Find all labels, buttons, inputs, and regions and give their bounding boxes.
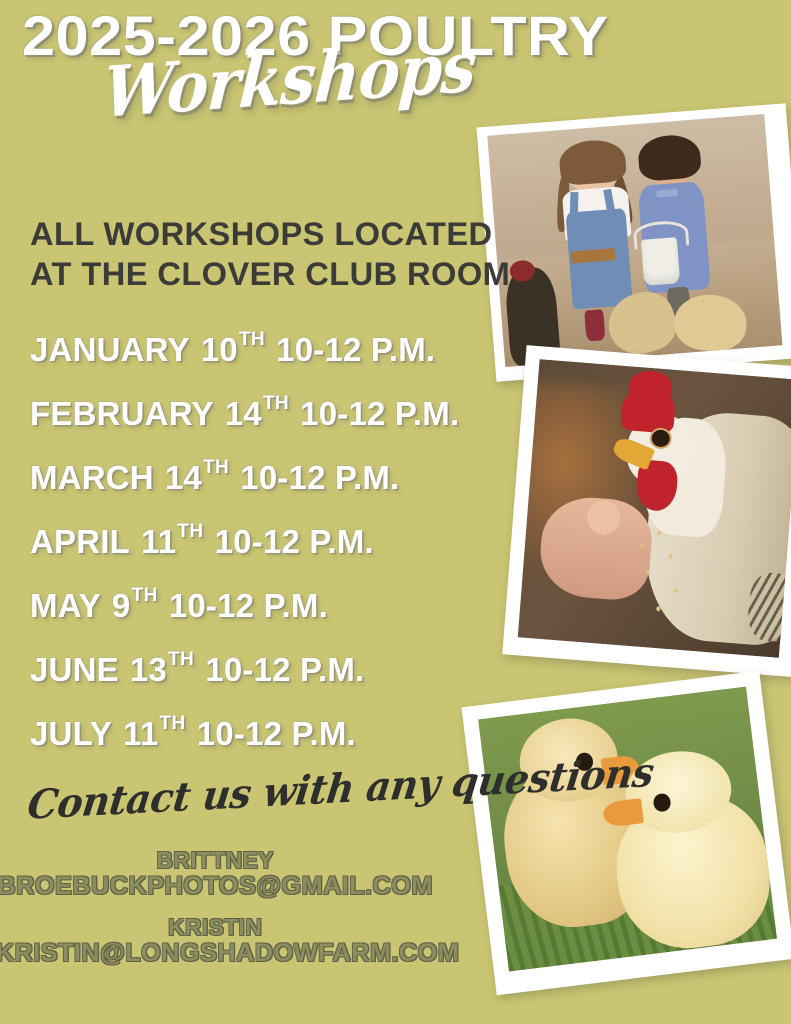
schedule-month: MARCH — [30, 459, 154, 497]
scene-hen — [518, 359, 791, 658]
schedule-month: FEBRUARY — [30, 395, 214, 433]
location-line-2: AT THE CLOVER CLUB ROOM — [30, 254, 489, 294]
location-line-1: ALL WORKSHOPS LOCATED — [30, 214, 489, 254]
schedule-time: 10-12 P.M. — [197, 715, 356, 753]
schedule-day: 11 — [123, 715, 158, 753]
schedule-ordinal: TH — [239, 329, 265, 351]
schedule-row: JULY 11 TH 10-12 P.M. — [30, 702, 500, 766]
schedule-ordinal: TH — [203, 457, 229, 479]
schedule-ordinal: TH — [168, 649, 194, 671]
schedule-time: 10-12 P.M. — [300, 395, 459, 433]
white-bucket — [640, 237, 680, 286]
schedule-ordinal: TH — [177, 521, 203, 543]
contact-name: KRISTIN — [0, 915, 430, 940]
schedule-month: JULY — [30, 715, 112, 753]
grain-seed — [674, 588, 679, 592]
schedule-day: 9 — [112, 587, 131, 625]
schedule-row: JUNE 13 TH 10-12 P.M. — [30, 638, 500, 702]
schedule-month: APRIL — [30, 523, 130, 561]
contact-email[interactable]: BROEBUCKPHOTOS@GMAIL.COM — [0, 873, 434, 901]
schedule-time: 10-12 P.M. — [240, 459, 399, 497]
schedule-day: 11 — [141, 523, 176, 561]
contact-email[interactable]: KRISTIN@LONGSHADOWFARM.COM — [0, 940, 434, 968]
strap-left — [570, 192, 579, 223]
schedule-day: 14 — [225, 395, 262, 433]
hen-comb — [621, 385, 677, 434]
photo-two-chicks — [461, 671, 791, 995]
photo-hen-eating-from-hand — [502, 345, 791, 677]
schedule-time: 10-12 P.M. — [276, 331, 435, 369]
contact-name: BRITTNEY — [0, 848, 430, 873]
contact-entry: BRITTNEY BROEBUCKPHOTOS@GMAIL.COM — [0, 848, 430, 901]
schedule-month: JUNE — [30, 651, 119, 689]
headline-block: 2025-2026 POULTRY Workshops — [22, 8, 642, 125]
scene-chicks — [478, 687, 777, 972]
schedule-day: 14 — [165, 459, 202, 497]
photo-chicks-image — [478, 687, 777, 972]
schedule-row: APRIL 11 TH 10-12 P.M. — [30, 510, 500, 574]
contact-block: BRITTNEY BROEBUCKPHOTOS@GMAIL.COM KRISTI… — [0, 848, 430, 982]
schedule-time: 10-12 P.M. — [169, 587, 328, 625]
schedule-month: MAY — [30, 587, 101, 625]
grain-seed — [656, 606, 660, 611]
hair — [637, 133, 702, 182]
schedule-row: JANUARY 10 TH 10-12 P.M. — [30, 318, 500, 382]
scene-girls — [487, 114, 782, 367]
schedule-list: JANUARY 10 TH 10-12 P.M. FEBRUARY 14 TH … — [30, 318, 500, 766]
boot — [584, 309, 606, 342]
schedule-month: JANUARY — [30, 331, 190, 369]
poultry-workshops-poster: 2025-2026 POULTRY Workshops ALL WORKSHOP… — [0, 0, 791, 1024]
contact-entry: KRISTIN KRISTIN@LONGSHADOWFARM.COM — [0, 915, 430, 968]
schedule-day: 13 — [130, 651, 167, 689]
schedule-row: MAY 9 TH 10-12 P.M. — [30, 574, 500, 638]
photo-girls-image — [487, 114, 782, 367]
schedule-row: MARCH 14 TH 10-12 P.M. — [30, 446, 500, 510]
photo-girls-feeding-chickens — [476, 103, 791, 382]
schedule-ordinal: TH — [263, 393, 289, 415]
schedule-day: 10 — [201, 331, 238, 369]
schedule-ordinal: TH — [131, 585, 157, 607]
hair — [558, 138, 627, 186]
schedule-ordinal: TH — [159, 713, 185, 735]
schedule-time: 10-12 P.M. — [215, 523, 374, 561]
photo-hen-image — [518, 359, 791, 658]
schedule-row: FEBRUARY 14 TH 10-12 P.M. — [30, 382, 500, 446]
location-note: ALL WORKSHOPS LOCATED AT THE CLOVER CLUB… — [30, 214, 489, 294]
grain-seed — [657, 531, 661, 535]
schedule-time: 10-12 P.M. — [205, 651, 364, 689]
